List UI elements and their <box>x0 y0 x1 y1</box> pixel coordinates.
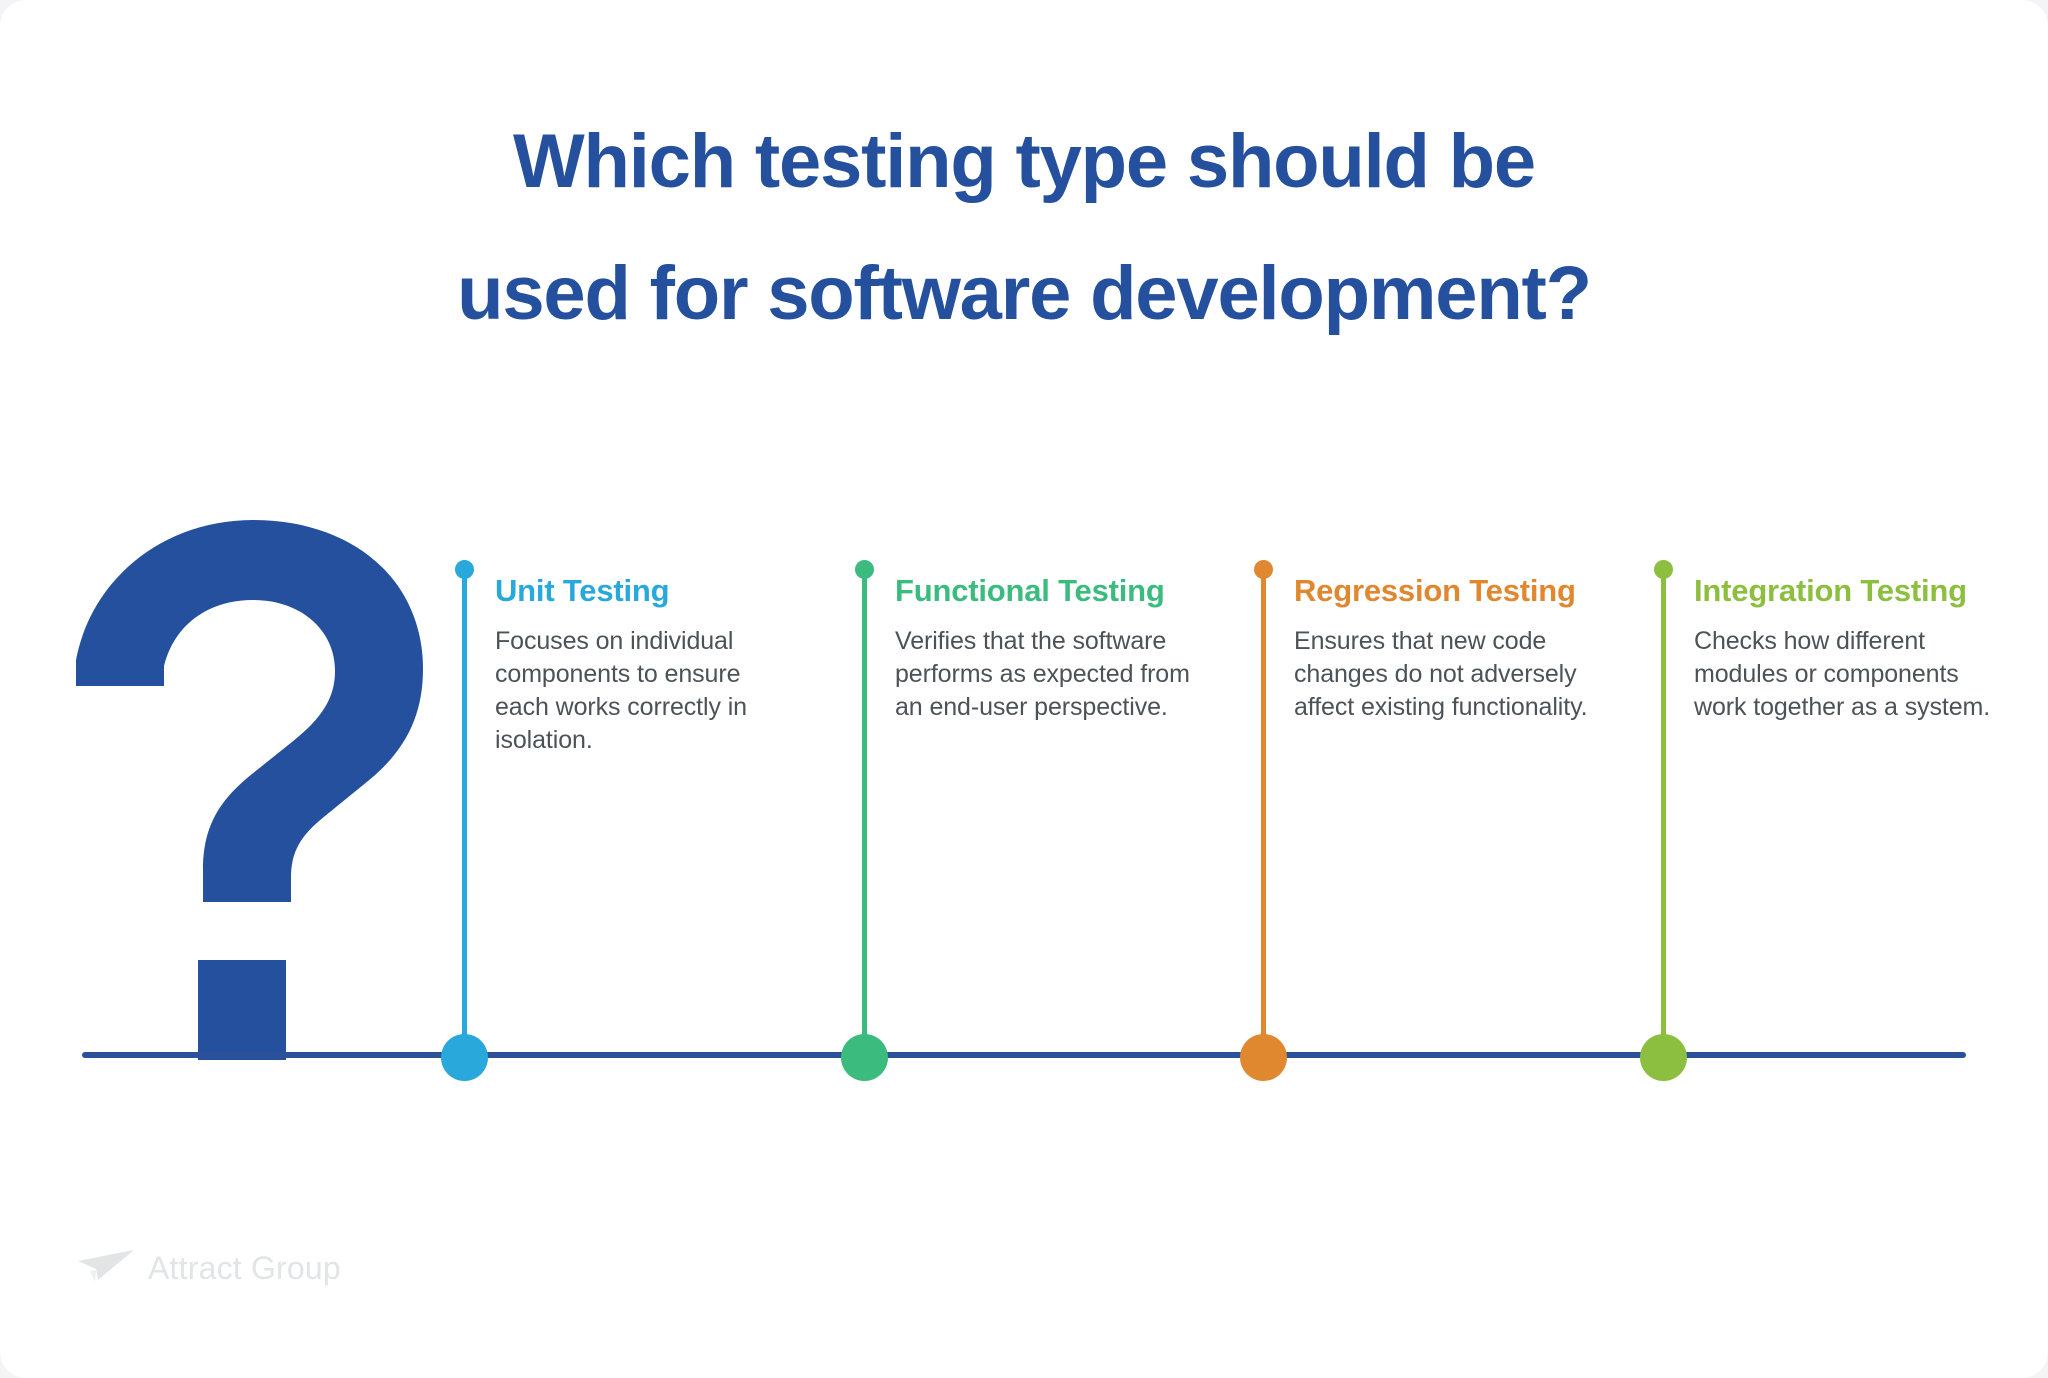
timeline-item-heading: Functional Testing <box>895 568 1200 613</box>
timeline-dot-icon-base <box>841 1034 888 1081</box>
timeline-stem <box>1661 576 1666 1056</box>
timeline-item-body: Focuses on individual components to ensu… <box>495 625 800 757</box>
brand-logo: Attract Group <box>78 1248 341 1288</box>
timeline-item-heading: Integration Testing <box>1694 568 1999 613</box>
page-title-line-1: Which testing type should be <box>0 96 2048 228</box>
page-title-line-2: used for software development? <box>0 228 2048 360</box>
timeline-dot-icon-base <box>1240 1034 1287 1081</box>
brand-logo-text: Attract Group <box>148 1248 341 1288</box>
timeline-item-integration-testing: Integration Testing Checks how different… <box>1661 560 2048 1080</box>
timeline-dot-icon-top <box>1254 560 1273 579</box>
timeline-item-heading: Unit Testing <box>495 568 800 613</box>
timeline-stem <box>462 576 467 1056</box>
timeline-item-text: Unit Testing Focuses on individual compo… <box>495 568 800 757</box>
timeline-dot-icon-top <box>1654 560 1673 579</box>
infographic-canvas: Which testing type should be used for so… <box>0 0 2048 1378</box>
timeline-item-body: Ensures that new code changes do not adv… <box>1294 625 1599 724</box>
timeline-dot-icon-base <box>1640 1034 1687 1081</box>
timeline-dot-icon-top <box>855 560 874 579</box>
timeline-item-functional-testing: Functional Testing Verifies that the sof… <box>862 560 1262 1080</box>
timeline-item-text: Regression Testing Ensures that new code… <box>1294 568 1599 724</box>
timeline-item-unit-testing: Unit Testing Focuses on individual compo… <box>462 560 862 1080</box>
page-title: Which testing type should be used for so… <box>0 96 2048 360</box>
timeline-item-heading: Regression Testing <box>1294 568 1599 613</box>
timeline-item-body: Checks how different modules or componen… <box>1694 625 1999 724</box>
timeline-item-text: Functional Testing Verifies that the sof… <box>895 568 1200 724</box>
timeline-item-body: Verifies that the software performs as e… <box>895 625 1200 724</box>
timeline-stem <box>1261 576 1266 1056</box>
timeline-item-text: Integration Testing Checks how different… <box>1694 568 1999 724</box>
timeline-item-regression-testing: Regression Testing Ensures that new code… <box>1261 560 1661 1080</box>
timeline-dot-icon-base <box>441 1034 488 1081</box>
timeline-dot-icon-top <box>455 560 474 579</box>
paper-plane-icon <box>78 1248 134 1288</box>
timeline-stem <box>862 576 867 1056</box>
question-mark-icon <box>70 520 440 1060</box>
